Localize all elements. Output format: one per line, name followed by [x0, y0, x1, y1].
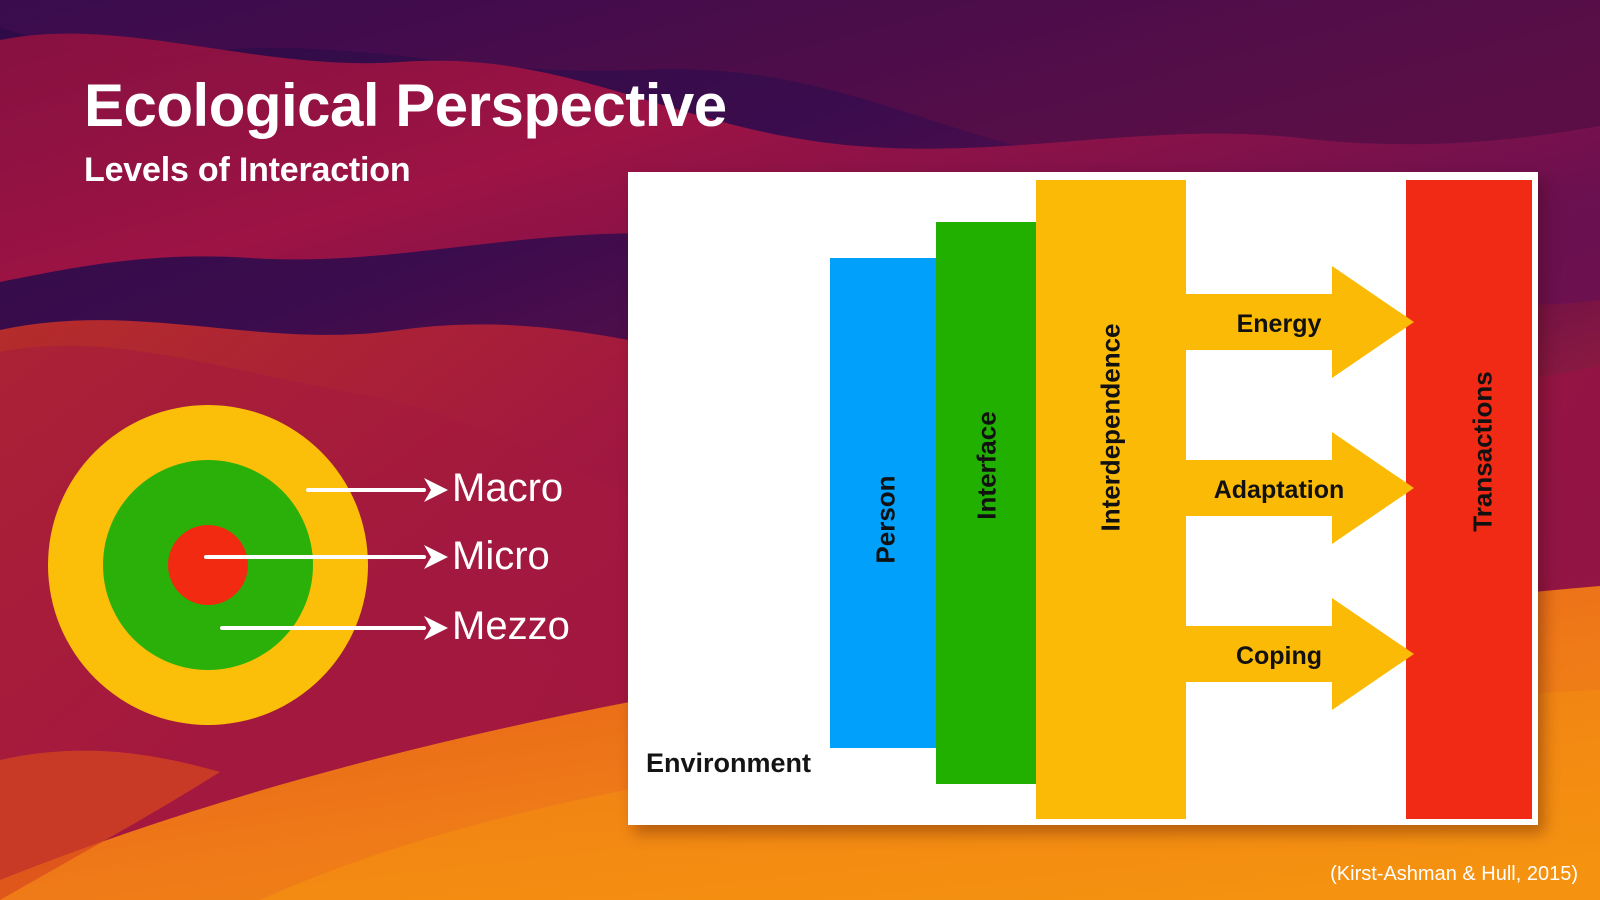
- arrow-label-energy: Energy: [1194, 310, 1364, 339]
- bar-label-person: Person: [871, 475, 902, 563]
- page-subtitle: Levels of Interaction: [84, 151, 727, 190]
- bar-transactions: Transactions: [1406, 180, 1532, 819]
- bar-interdependence: Interdependence: [1036, 180, 1186, 819]
- arrow-label-coping: Coping: [1194, 642, 1364, 671]
- bar-label-interface: Interface: [972, 411, 1003, 519]
- ring-micro: [168, 525, 248, 605]
- slide-canvas: Ecological Perspective Levels of Interac…: [0, 0, 1600, 900]
- arrow-label-adaptation: Adaptation: [1194, 476, 1364, 505]
- bar-interface: Interface: [936, 222, 1038, 784]
- panel-inner: Person Interface Interdependence Transac…: [634, 178, 1532, 819]
- levels-ring-diagram: [48, 405, 368, 725]
- bar-label-transactions: Transactions: [1468, 371, 1499, 531]
- ring-label-macro: Macro: [452, 468, 563, 508]
- bar-person: Person: [830, 258, 942, 748]
- ring-label-micro: Micro: [452, 536, 550, 576]
- bar-label-interdependence: Interdependence: [1096, 323, 1127, 531]
- title-block: Ecological Perspective Levels of Interac…: [84, 74, 727, 190]
- citation-text: (Kirst-Ashman & Hull, 2015): [1330, 863, 1578, 886]
- ring-label-mezzo: Mezzo: [452, 606, 570, 646]
- environment-label: Environment: [646, 748, 811, 779]
- ecological-model-panel: Person Interface Interdependence Transac…: [628, 172, 1538, 825]
- page-title: Ecological Perspective: [84, 74, 727, 137]
